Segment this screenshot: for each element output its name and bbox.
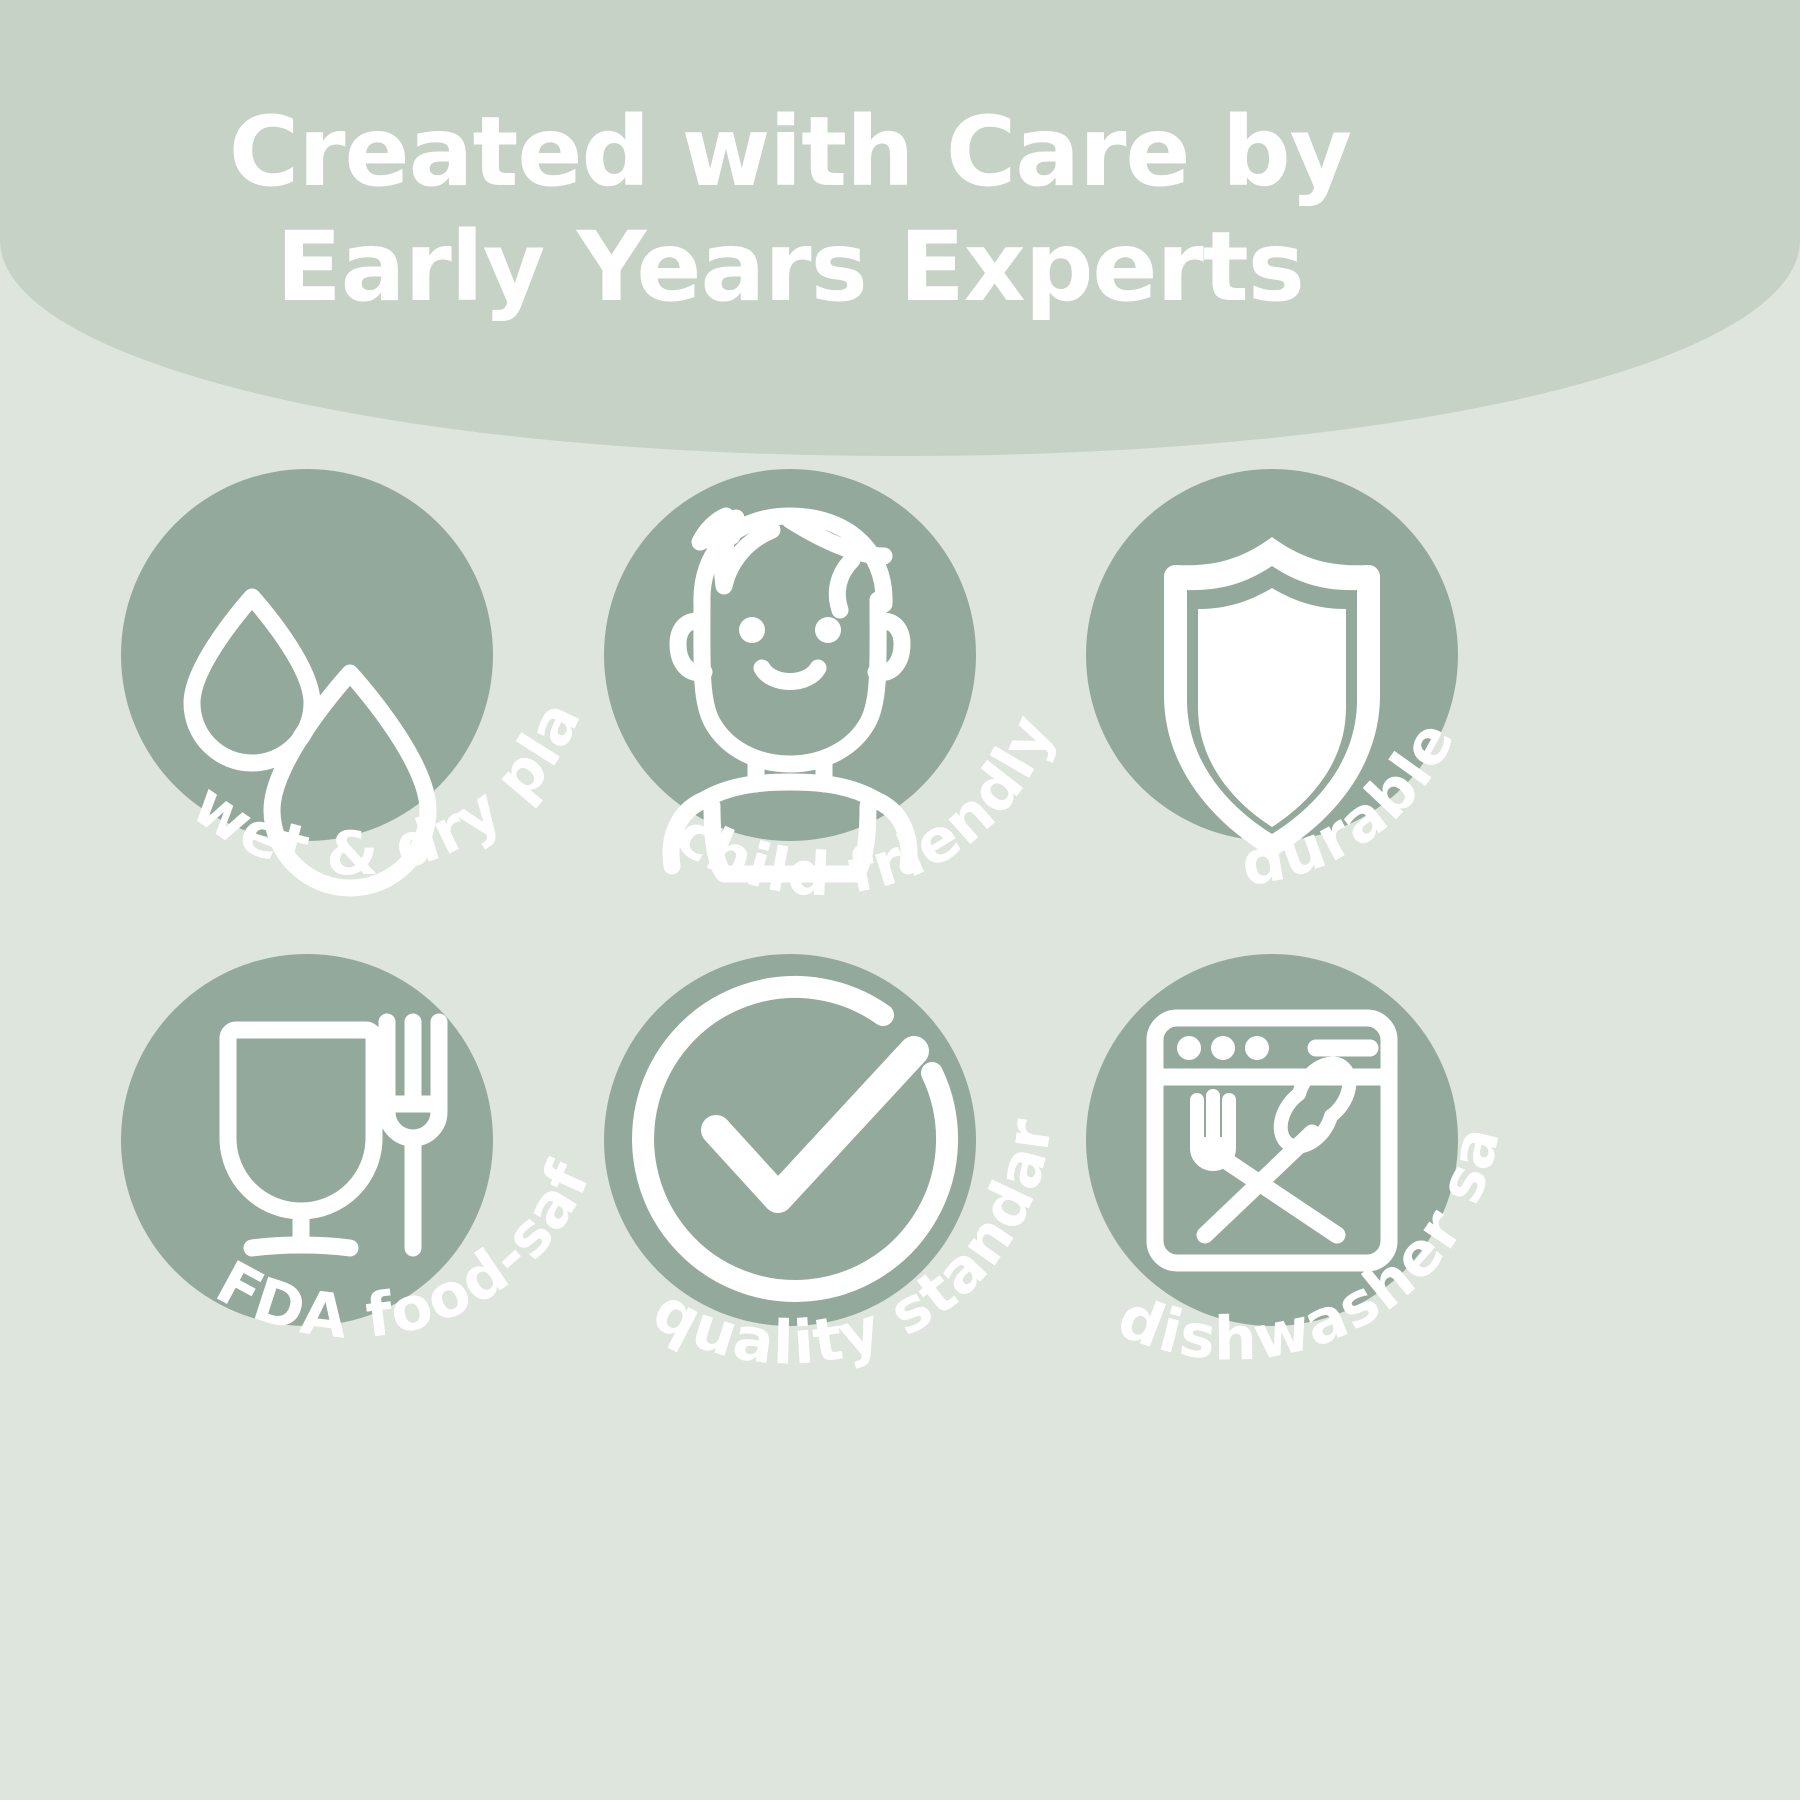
page-title-line1: Created with Care by (229, 96, 1351, 208)
infographic-canvas: Created with Care by Early Years Experts… (0, 0, 1800, 1800)
page-title-line2: Early Years Experts (276, 211, 1304, 323)
feature-circle (121, 469, 493, 841)
